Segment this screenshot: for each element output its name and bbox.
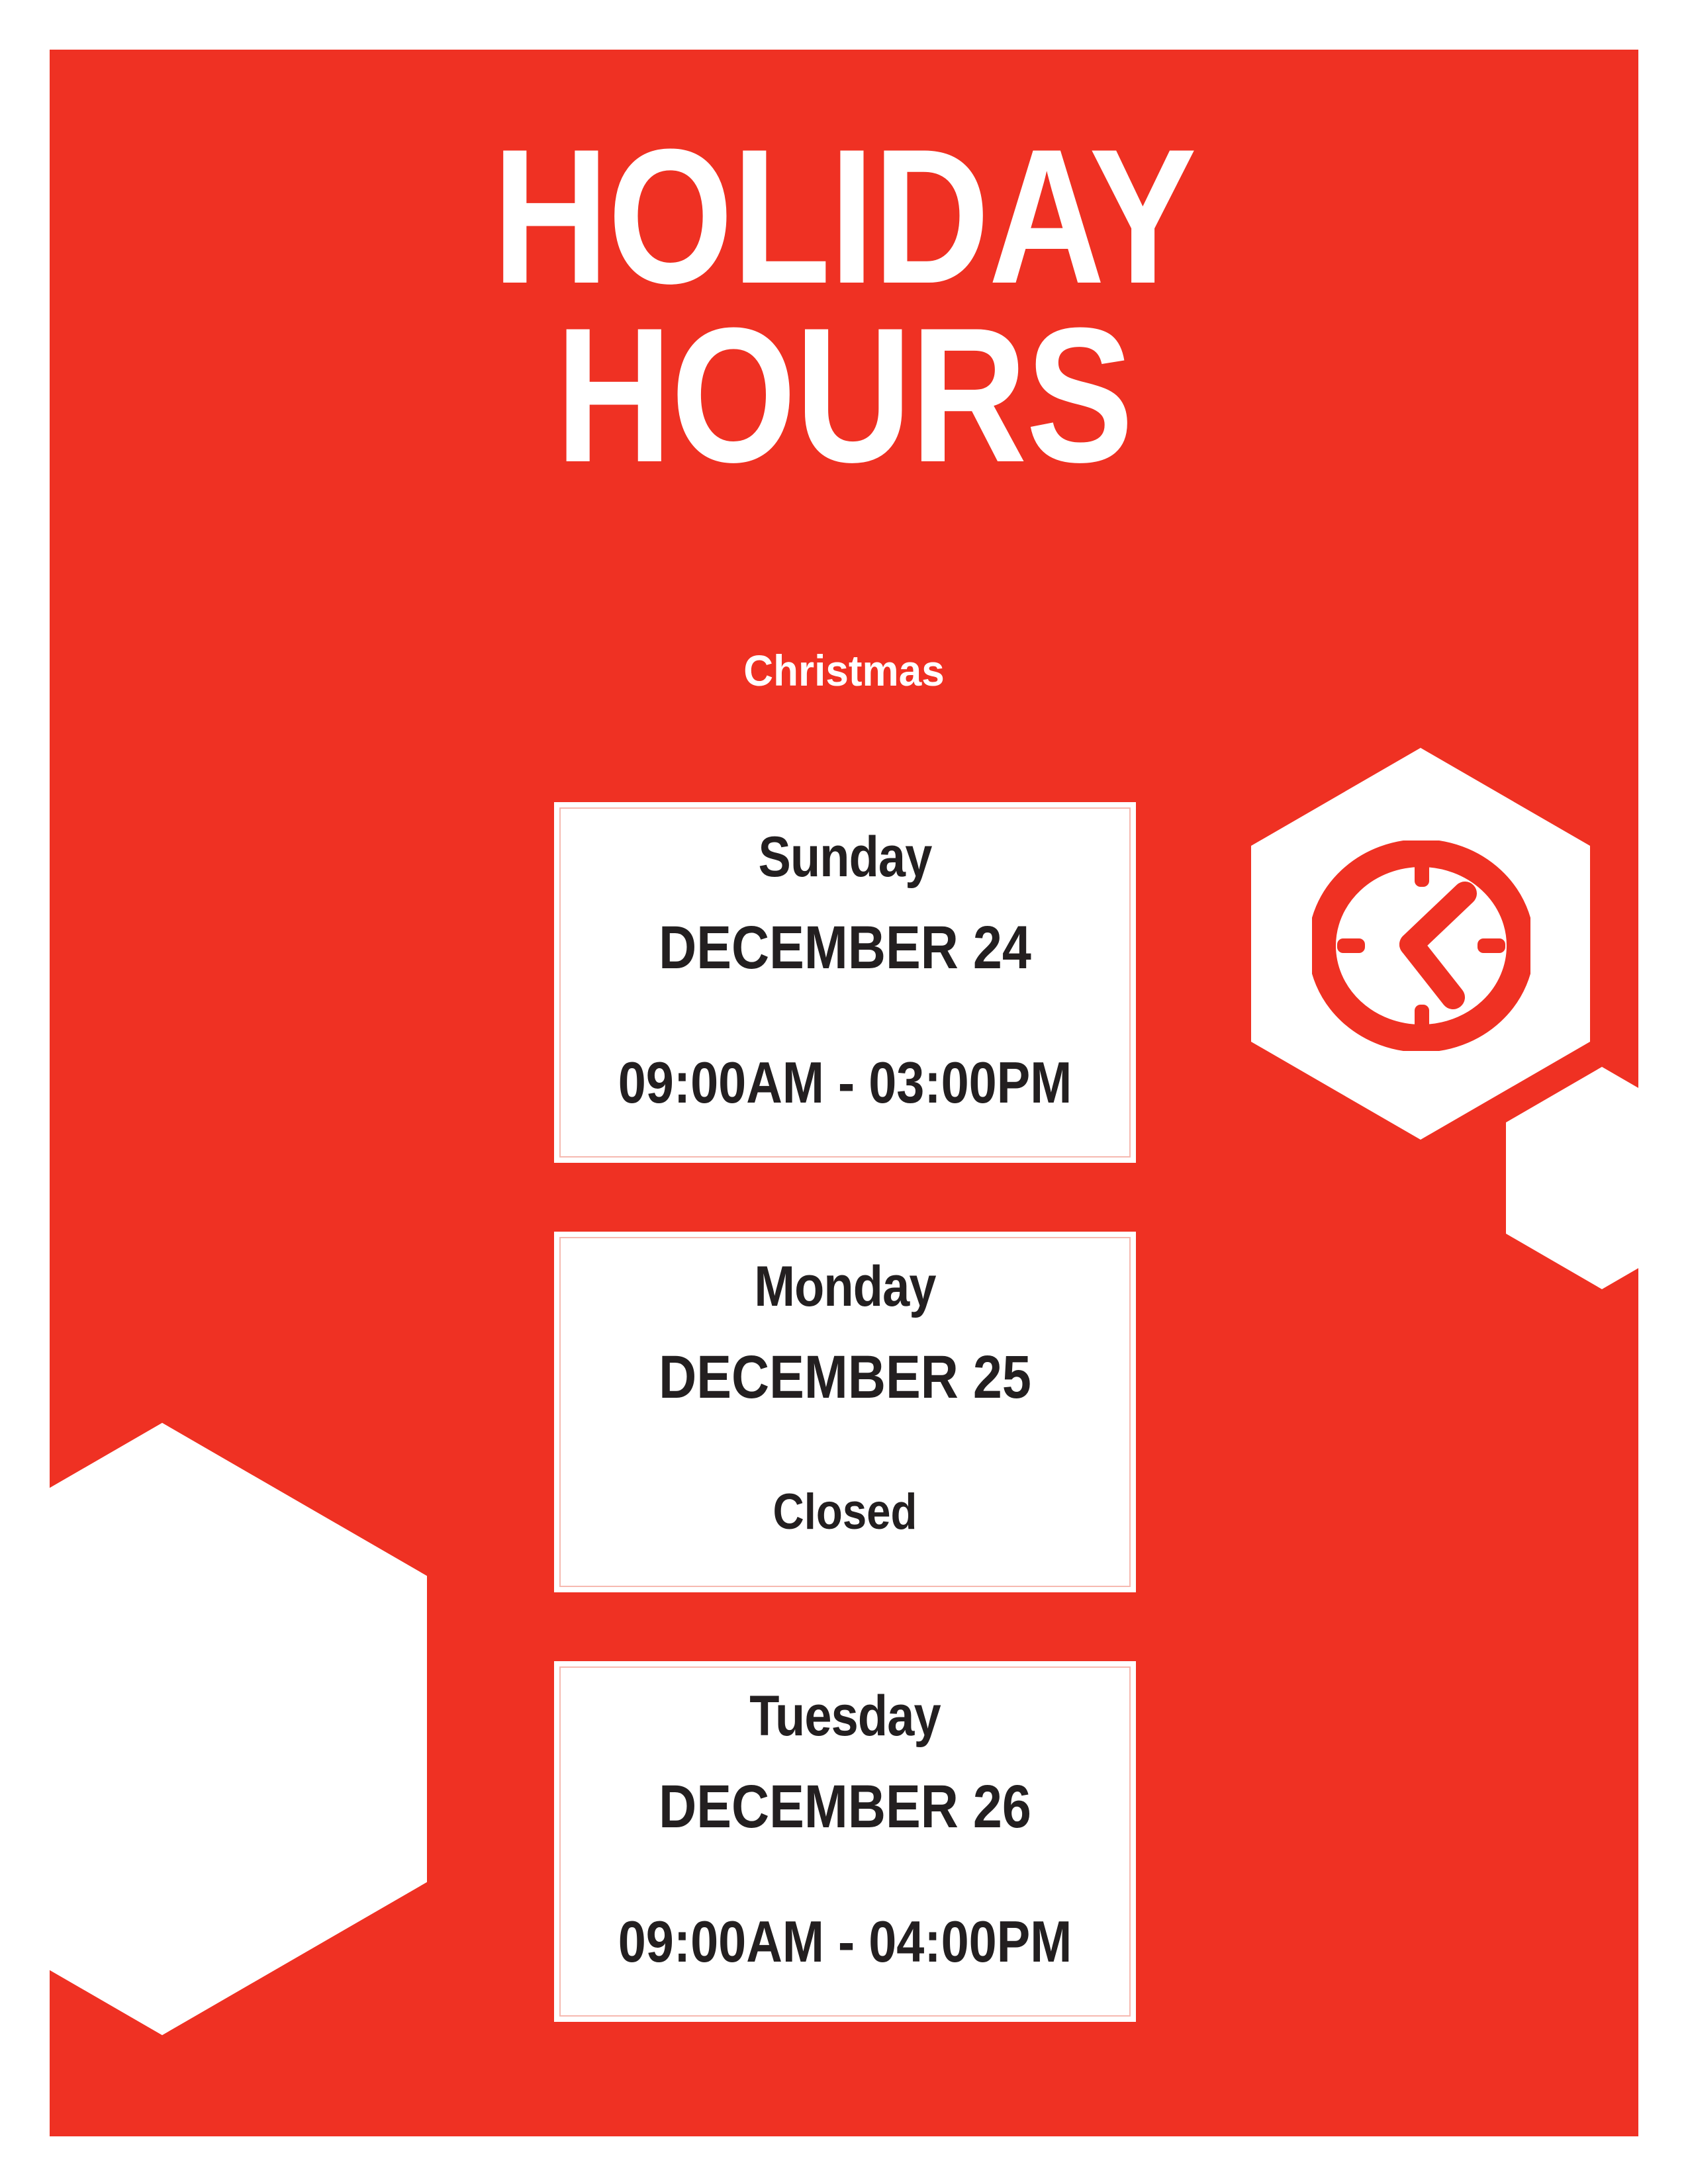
- schedule-card: Monday DECEMBER 25 Closed: [554, 1232, 1136, 1592]
- card-body: Tuesday DECEMBER 26 09:00AM - 04:00PM: [554, 1661, 1136, 2022]
- schedule-card: Sunday DECEMBER 24 09:00AM - 03:00PM: [554, 802, 1136, 1163]
- card-date: DECEMBER 26: [595, 1775, 1096, 1839]
- card-weekday: Monday: [595, 1257, 1096, 1316]
- holiday-hours-poster: HOLIDAY HOURS Christmas Sunday DECEMBER …: [0, 0, 1688, 2184]
- schedule-card: Tuesday DECEMBER 26 09:00AM - 04:00PM: [554, 1661, 1136, 2022]
- card-weekday: Sunday: [595, 827, 1096, 887]
- card-hours: Closed: [595, 1486, 1096, 1539]
- card-hours: 09:00AM - 04:00PM: [595, 1911, 1096, 1972]
- card-body: Sunday DECEMBER 24 09:00AM - 03:00PM: [554, 802, 1136, 1163]
- hexagon-shape-small-icon: [1506, 1067, 1638, 1289]
- card-weekday: Tuesday: [595, 1686, 1096, 1746]
- poster-subtitle: Christmas: [97, 649, 1591, 692]
- card-hours: 09:00AM - 03:00PM: [595, 1052, 1096, 1113]
- title-line-hours: HOURS: [177, 301, 1511, 489]
- title-line-holiday: HOLIDAY: [177, 122, 1511, 310]
- clock-icon: [1312, 841, 1530, 1051]
- card-date: DECEMBER 25: [595, 1345, 1096, 1410]
- card-date: DECEMBER 24: [595, 916, 1096, 980]
- card-body: Monday DECEMBER 25 Closed: [554, 1232, 1136, 1592]
